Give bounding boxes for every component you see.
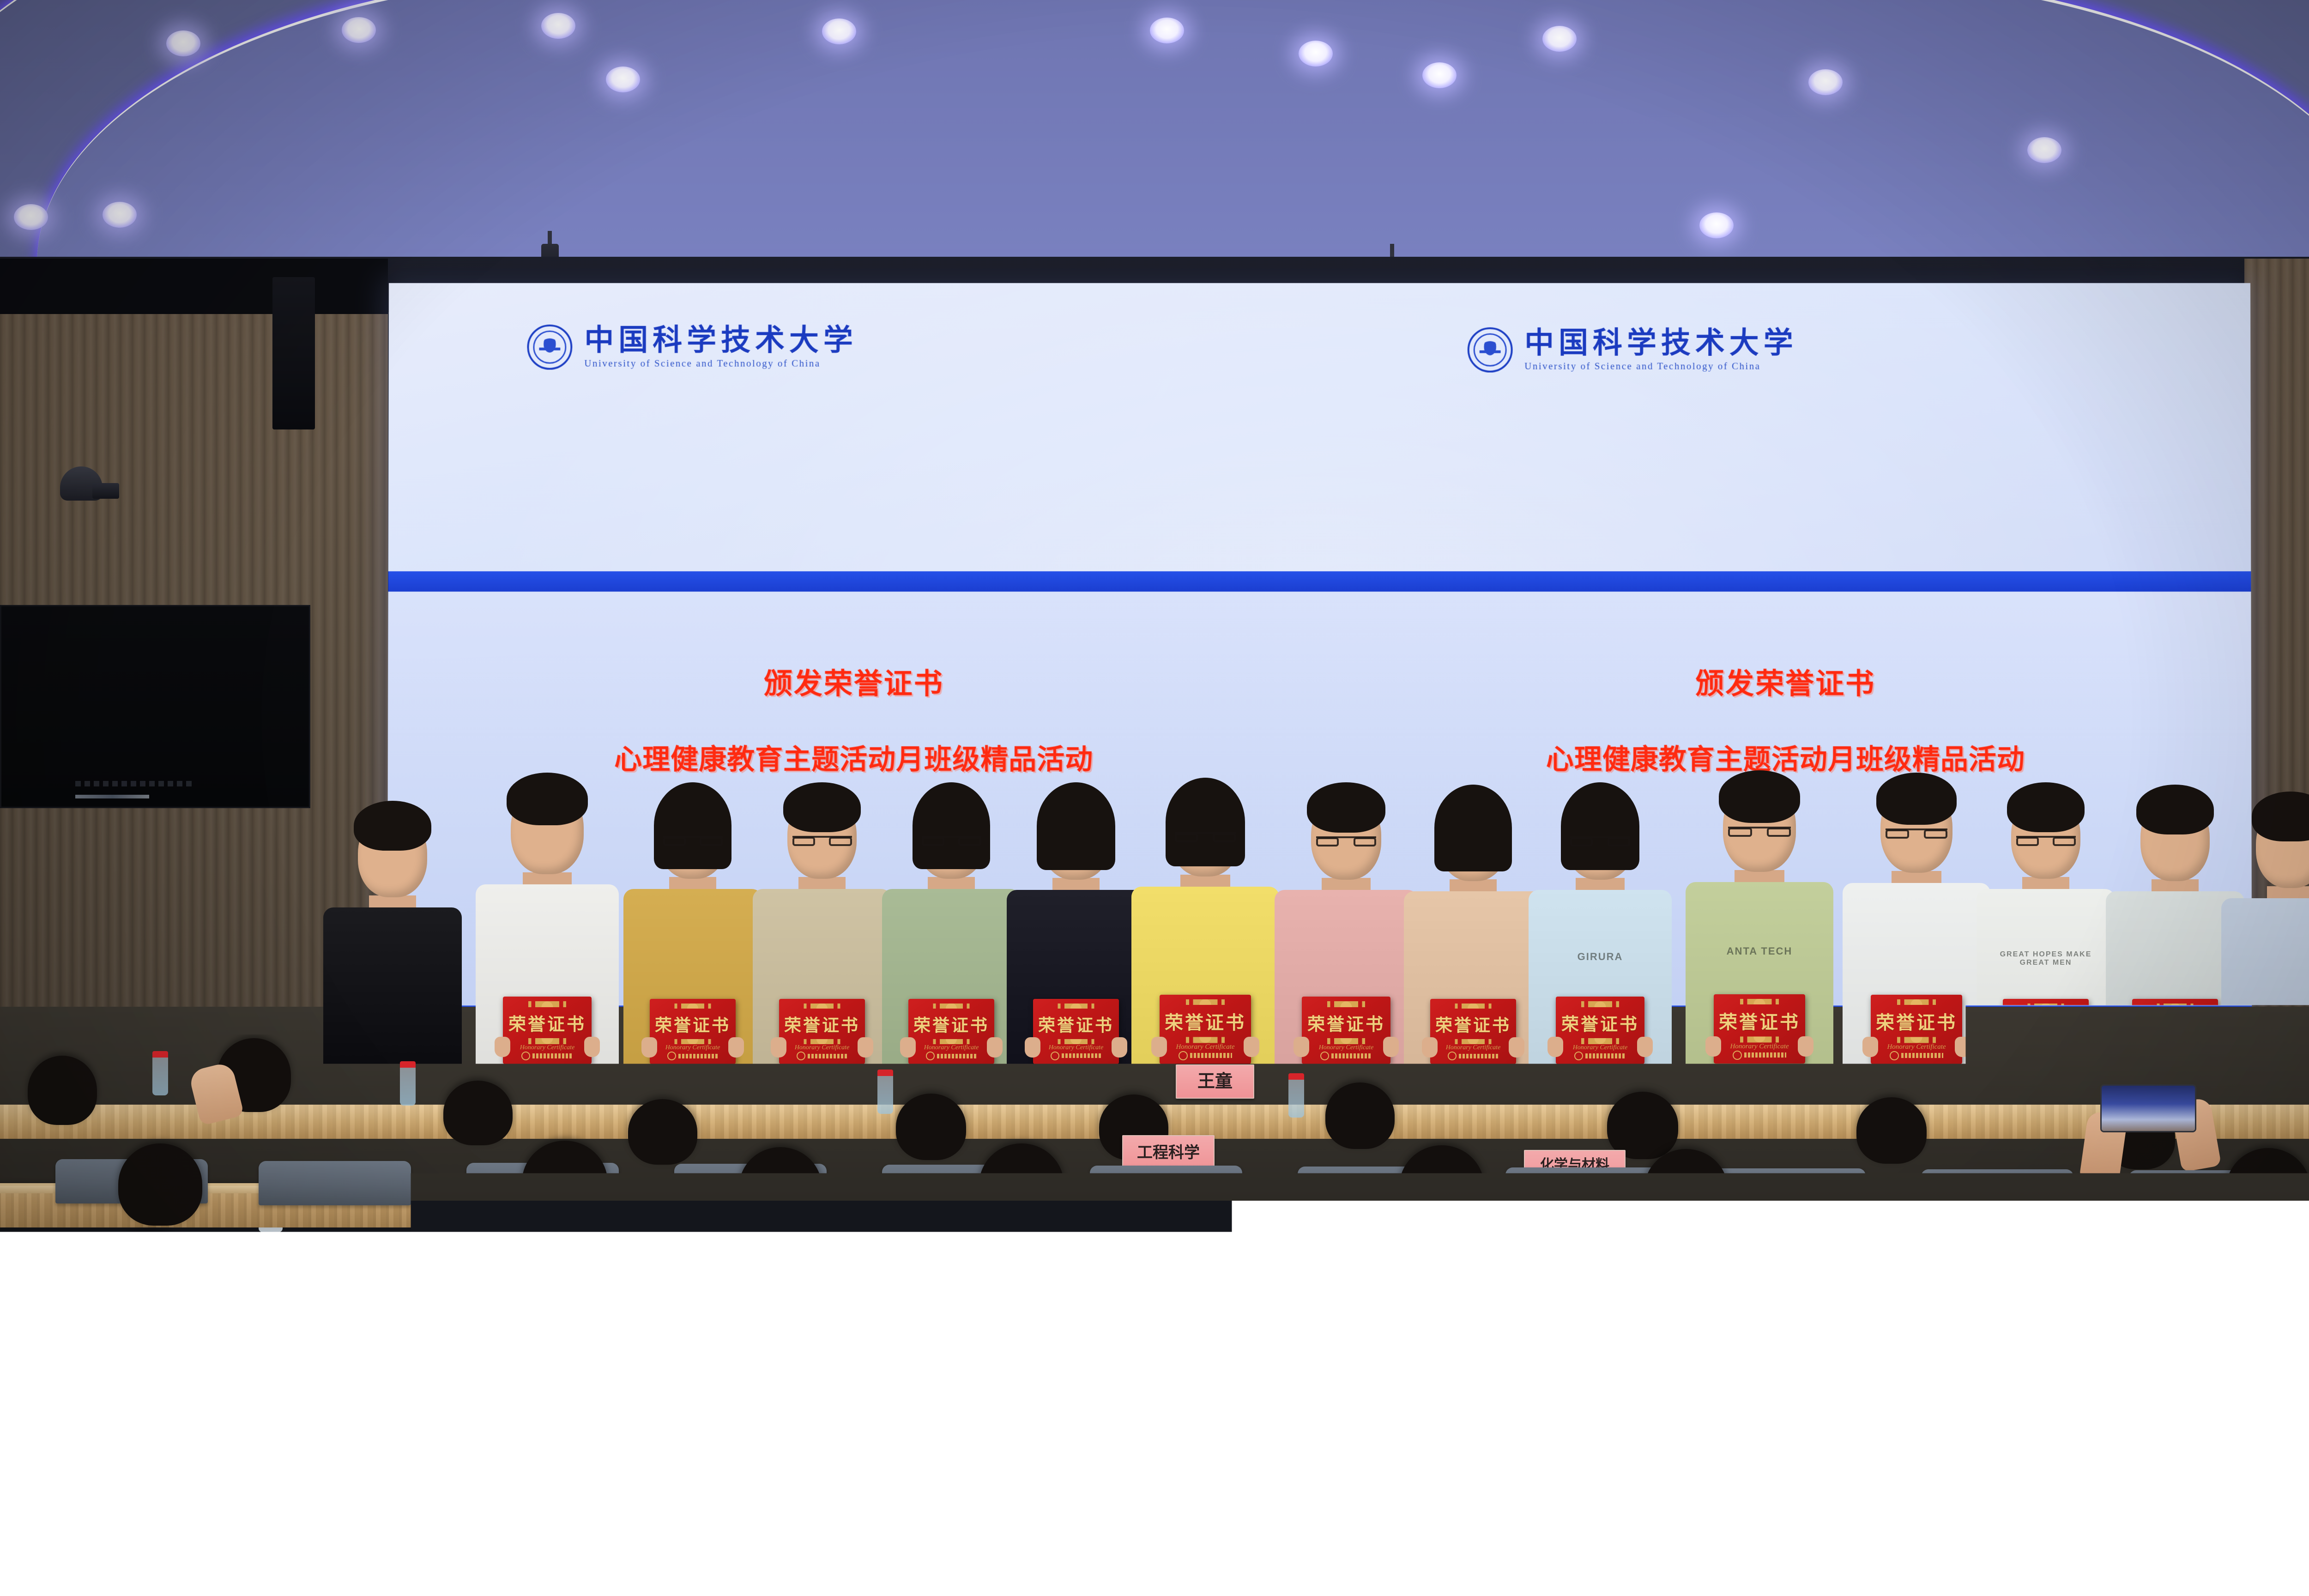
certificate-ornament-icon bbox=[927, 1004, 975, 1009]
shirt-graphic-text: GREAT HOPES MAKE GREAT MEN bbox=[1977, 950, 2115, 967]
person-head bbox=[1880, 785, 1952, 873]
eyeglasses-icon bbox=[1728, 827, 1791, 834]
person-hair bbox=[507, 773, 588, 825]
ustc-crest-icon bbox=[1467, 327, 1512, 373]
shirt-graphic-text: GIRURA bbox=[1529, 951, 1672, 962]
audience-body bbox=[217, 1441, 513, 1596]
ceiling-downlight bbox=[1808, 69, 1843, 95]
person-head bbox=[1723, 783, 1796, 872]
ceiling-downlight bbox=[103, 202, 137, 228]
stage-recipient: 荣誉证书Honorary Certificate bbox=[1275, 794, 1418, 1071]
water-bottle bbox=[1288, 1073, 1304, 1118]
certificate-ornament-icon bbox=[1321, 1001, 1371, 1007]
brand-lockup: 中国科学技术大学 University of Science and Techn… bbox=[1467, 327, 1797, 373]
audience-head bbox=[1607, 1092, 1678, 1159]
wall-left-upper-shadow bbox=[0, 259, 388, 314]
water-bottle bbox=[400, 1061, 416, 1106]
certificate-title-cn: 荣誉证书 bbox=[1435, 1011, 1511, 1036]
audience-head bbox=[628, 1099, 697, 1165]
seat-back bbox=[1275, 1289, 1459, 1343]
certificate-title-cn: 荣誉证书 bbox=[2008, 1011, 2084, 1036]
audience-head bbox=[522, 1141, 608, 1225]
brand-lockup: 中国科学技术大学 University of Science and Techn… bbox=[527, 325, 858, 370]
person-head bbox=[358, 813, 427, 897]
ustc-crest-icon bbox=[527, 325, 572, 370]
brand-name-cn: 中国科学技术大学 bbox=[1524, 328, 1798, 357]
person-head bbox=[658, 794, 727, 879]
certificate-title-cn: 荣誉证书 bbox=[913, 1011, 989, 1036]
water-bottle bbox=[877, 1070, 893, 1114]
wall-speaker bbox=[272, 277, 315, 429]
person-head bbox=[917, 794, 986, 879]
ceiling-downlight bbox=[541, 13, 575, 39]
certificate-ornament-icon bbox=[1449, 1004, 1497, 1009]
person-hair bbox=[1434, 785, 1512, 871]
person-neck bbox=[1576, 878, 1624, 890]
ceiling-downlight bbox=[1542, 26, 1577, 52]
audience-head bbox=[1459, 1230, 1578, 1345]
eyeglasses-icon bbox=[2016, 836, 2076, 843]
audience-head bbox=[905, 1238, 1022, 1350]
ceiling-downlight bbox=[606, 66, 640, 92]
person-neck bbox=[1892, 871, 1942, 883]
certificate-ornament-icon bbox=[1891, 999, 1942, 1005]
person-hair bbox=[2136, 785, 2214, 834]
audience-head bbox=[633, 1228, 752, 1344]
stage-recipient: 荣誉证书Honorary Certificate bbox=[1007, 794, 1145, 1071]
seat-back bbox=[1921, 1169, 2073, 1214]
certificate-title-cn: 荣誉证书 bbox=[508, 1010, 586, 1035]
ceiling bbox=[0, 0, 2309, 296]
audience-head bbox=[1399, 1145, 1484, 1228]
certificate-ornament-icon bbox=[1734, 999, 1785, 1005]
audience-area: 王童 工程科学 化学与材料 科学学院 bbox=[0, 1034, 2309, 1596]
audience-head bbox=[1644, 1149, 1728, 1231]
certificate-ornament-icon bbox=[2151, 1004, 2199, 1009]
ceiling-downlight bbox=[1699, 212, 1734, 238]
person-hair bbox=[783, 782, 861, 832]
audience-head-foreground bbox=[1362, 1339, 1561, 1538]
stage-recipient: 荣誉证书Honorary Certificate bbox=[1404, 797, 1542, 1071]
person-hair bbox=[654, 782, 731, 869]
stage-recipient: 荣誉证书Honorary Certificate bbox=[753, 794, 891, 1071]
ceiling-downlight bbox=[1422, 62, 1457, 88]
person-hair bbox=[1166, 778, 1245, 867]
slide-heading-secondary: 心理健康教育主题活动月班级精品活动 bbox=[1320, 744, 2252, 775]
audience-head-foreground bbox=[476, 1330, 670, 1524]
eyeglasses-icon bbox=[1175, 832, 1236, 840]
certificate-title-cn: 荣誉证书 bbox=[784, 1011, 860, 1036]
certificate-title-cn: 荣誉证书 bbox=[2137, 1011, 2213, 1036]
eyeglasses-icon bbox=[922, 836, 981, 843]
person-hair bbox=[1561, 782, 1639, 870]
wall-display-monitor bbox=[0, 605, 310, 808]
eyeglasses-icon bbox=[663, 836, 723, 843]
eyeglasses-icon bbox=[1570, 836, 1631, 844]
person-hair bbox=[913, 782, 990, 869]
stage-recipient: 荣誉证书Honorary Certificate bbox=[882, 794, 1021, 1071]
certificate-ornament-icon bbox=[1180, 999, 1231, 1005]
shirt-graphic-text: ANTA TECH bbox=[1686, 946, 1833, 957]
stage-recipient: ANTA TECH荣誉证书Honorary Certificate bbox=[1686, 783, 1833, 1071]
slide-heading-primary: 颁发荣誉证书 bbox=[1320, 668, 2251, 700]
smartphone-camera[interactable] bbox=[2100, 1084, 2196, 1132]
slide-heading-primary: 颁发荣誉证书 bbox=[388, 668, 1319, 700]
audience-head bbox=[896, 1094, 966, 1160]
audience-head bbox=[739, 1147, 822, 1228]
person-head bbox=[2140, 797, 2210, 881]
ceiling-downlight bbox=[342, 17, 376, 43]
person-head bbox=[1439, 797, 1508, 881]
person-head bbox=[1041, 794, 1111, 880]
certificate-title-cn: 荣誉证书 bbox=[1561, 1010, 1639, 1035]
audience-head bbox=[1856, 1097, 1927, 1164]
ceiling-downlight bbox=[14, 204, 48, 230]
person-head bbox=[511, 785, 584, 874]
person-neck bbox=[1052, 878, 1100, 890]
screenshot-root: 中国科学技术大学 University of Science and Techn… bbox=[0, 0, 2309, 1596]
certificate-ornament-icon bbox=[2022, 1004, 2070, 1009]
certificate-ornament-icon bbox=[1575, 1001, 1625, 1007]
certificate-ornament-icon bbox=[1052, 1004, 1100, 1009]
certificate-title-cn: 荣誉证书 bbox=[1165, 1008, 1246, 1034]
seat-back bbox=[1090, 1166, 1242, 1210]
certificate-ornament-icon bbox=[522, 1001, 572, 1007]
eyeglasses-icon bbox=[1886, 828, 1947, 836]
stage-recipient: 荣誉证书Honorary Certificate bbox=[476, 785, 619, 1071]
person-head bbox=[2011, 794, 2080, 879]
water-bottle bbox=[152, 1051, 168, 1095]
ceiling-downlight bbox=[822, 18, 856, 44]
certificate-title-cn: 荣誉证书 bbox=[1038, 1011, 1114, 1036]
person-hair bbox=[1876, 773, 1957, 824]
seat-back bbox=[259, 1161, 411, 1205]
audience-body bbox=[1662, 1459, 1986, 1596]
eyeglasses-icon bbox=[1316, 836, 1377, 844]
audience-body bbox=[993, 1464, 1312, 1596]
audience-head bbox=[118, 1143, 202, 1226]
certificate-title-cn: 荣誉证书 bbox=[1719, 1007, 1800, 1034]
audience-head bbox=[1325, 1082, 1395, 1149]
person-head bbox=[1170, 790, 1241, 877]
audience-head bbox=[979, 1143, 1064, 1227]
slide-heading-secondary: 心理健康教育主题活动月班级精品活动 bbox=[388, 744, 1320, 775]
phone-viewfinder bbox=[2102, 1086, 2195, 1131]
certificate-title-cn: 荣誉证书 bbox=[1876, 1008, 1957, 1034]
audience-head bbox=[443, 1081, 513, 1145]
stage-recipient: 荣誉证书Honorary Certificate bbox=[1843, 785, 1990, 1071]
ceiling-downlight bbox=[166, 30, 200, 56]
eyeglasses-icon bbox=[792, 836, 852, 843]
ceiling-downlight bbox=[1150, 18, 1184, 43]
person-hair bbox=[1719, 770, 1801, 823]
certificate-ornament-icon bbox=[669, 1004, 717, 1009]
person-hair bbox=[354, 801, 431, 851]
ceiling-downlight bbox=[2027, 137, 2061, 163]
certificate-ornament-icon bbox=[798, 1004, 846, 1009]
brand-name-en: University of Science and Technology of … bbox=[1524, 360, 1798, 372]
stage-recipient: GIRURA荣誉证书Honorary Certificate bbox=[1529, 794, 1672, 1071]
person-head bbox=[1311, 794, 1381, 880]
desk-nameplate: 王童 bbox=[1176, 1064, 1254, 1099]
person-neck bbox=[1322, 878, 1370, 890]
person-hair bbox=[2007, 782, 2085, 832]
person-head bbox=[787, 794, 857, 879]
ptz-camera-icon bbox=[60, 466, 119, 509]
seat-back bbox=[1505, 1167, 1658, 1212]
audience-body bbox=[2000, 1487, 2309, 1596]
ceiling-ring-inner bbox=[37, 0, 2309, 296]
audience-head bbox=[2226, 1148, 2309, 1231]
stage-presenter bbox=[323, 813, 462, 1071]
person-hair bbox=[1037, 782, 1115, 870]
seat-back bbox=[1713, 1168, 1866, 1213]
stage-recipient: 荣誉证书Honorary Certificate bbox=[623, 794, 762, 1071]
audience-body bbox=[683, 1478, 988, 1596]
brand-name-cn: 中国科学技术大学 bbox=[584, 325, 858, 355]
stage-presenter bbox=[2221, 804, 2309, 1071]
certificate-title-cn: 荣誉证书 bbox=[655, 1011, 731, 1036]
ceiling-downlight bbox=[1299, 41, 1333, 66]
stage-recipient: 荣誉证书Honorary Certificate bbox=[1131, 790, 1279, 1071]
person-hair bbox=[1307, 782, 1385, 833]
person-head bbox=[1565, 794, 1635, 880]
person-head bbox=[2256, 804, 2309, 888]
certificate-title-cn: 荣誉证书 bbox=[1307, 1010, 1385, 1035]
brand-name-en: University of Science and Technology of … bbox=[584, 357, 858, 369]
stage-recipient: GREAT HOPES MAKE GREAT MEN荣誉证书Honorary C… bbox=[1977, 794, 2115, 1071]
